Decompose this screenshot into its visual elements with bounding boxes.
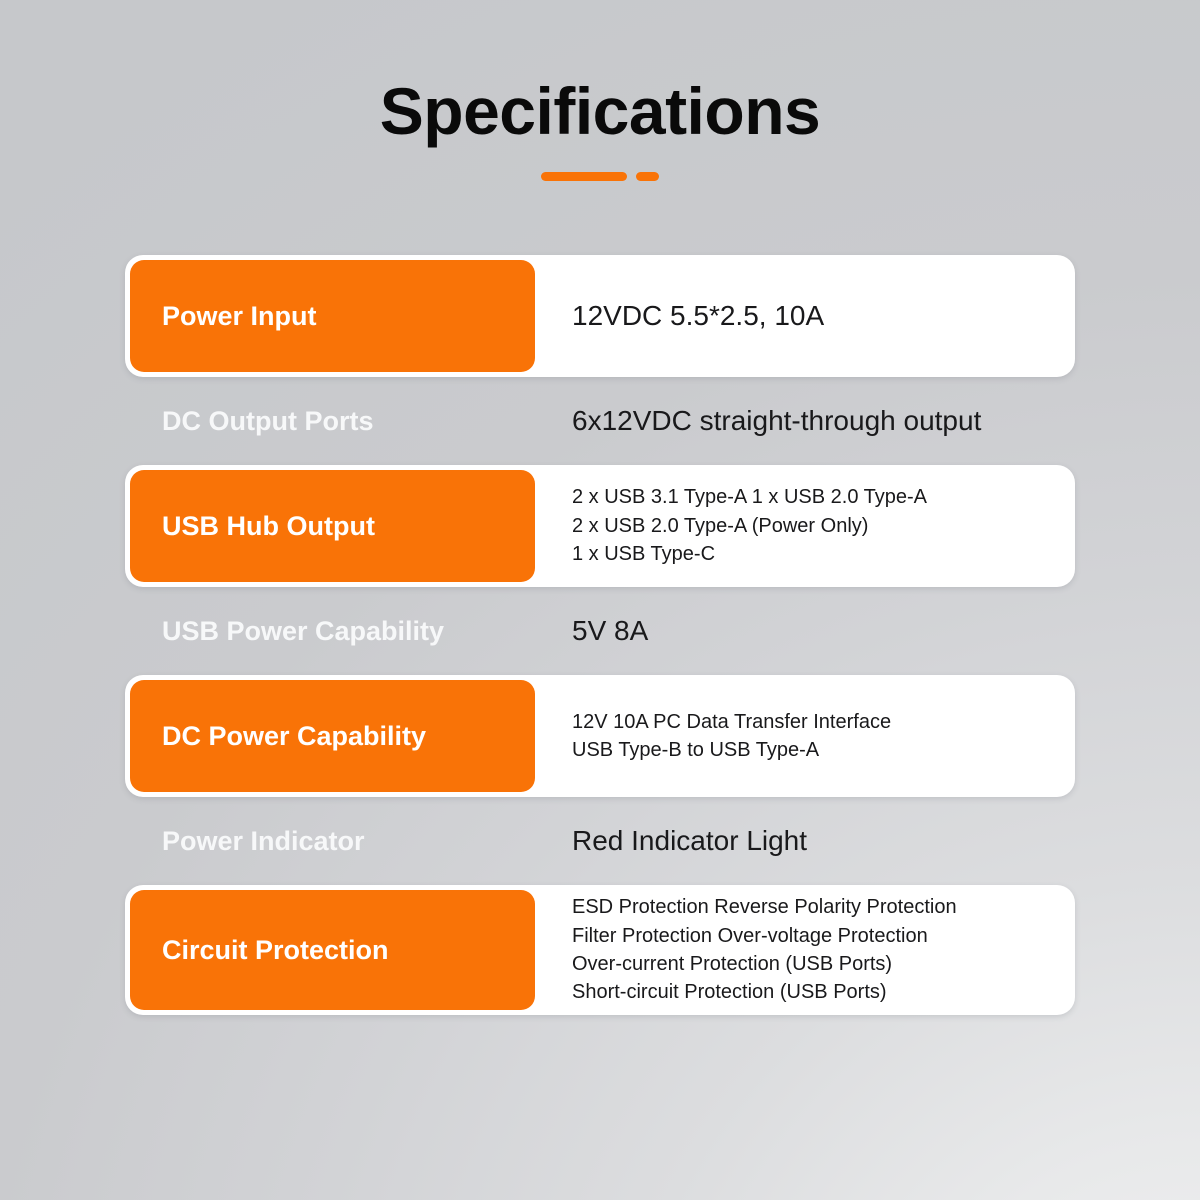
spec-value-cell: 12V 10A PC Data Transfer Interface USB T… [535,680,1070,792]
spec-value-cell: 5V 8A [535,600,1070,662]
spec-value-cell: 12VDC 5.5*2.5, 10A [535,260,1070,372]
spec-value-line: Over-current Protection (USB Ports) [572,950,1052,978]
divider-long-dash-icon [541,172,627,181]
spec-value-line: Filter Protection Over-voltage Protectio… [572,922,1052,950]
spec-label-cell: DC Power Capability [130,680,535,792]
spec-row-dc-power-capability: DC Power Capability 12V 10A PC Data Tran… [125,675,1075,797]
spec-label-cell: USB Power Capability [130,600,535,662]
spec-value-line: 12VDC 5.5*2.5, 10A [572,298,1052,335]
spec-row-power-input: Power Input 12VDC 5.5*2.5, 10A [125,255,1075,377]
spec-label: USB Power Capability [162,615,444,648]
spec-row-power-indicator: Power Indicator Red Indicator Light [125,805,1075,877]
divider-short-dash-icon [636,172,659,181]
spec-value-cell: Red Indicator Light [535,810,1070,872]
spec-value-cell: 6x12VDC straight-through output [535,390,1070,452]
spec-value-line: USB Type-B to USB Type-A [572,736,1052,764]
spec-value-line: 2 x USB 3.1 Type-A 1 x USB 2.0 Type-A [572,483,1052,511]
spec-label: DC Output Ports [162,405,373,438]
spec-value-line: 1 x USB Type-C [572,540,1052,568]
spec-label-cell: Circuit Protection [130,890,535,1010]
spec-value-line: 2 x USB 2.0 Type-A (Power Only) [572,512,1052,540]
spec-value-line: 6x12VDC straight-through output [572,403,1052,440]
spec-value-line: Short-circuit Protection (USB Ports) [572,978,1052,1006]
spec-row-circuit-protection: Circuit Protection ESD Protection Revers… [125,885,1075,1015]
spec-label: Power Input [162,300,317,333]
spec-label: DC Power Capability [162,720,426,753]
spec-value-line: 12V 10A PC Data Transfer Interface [572,708,1052,736]
spec-value-line: ESD Protection Reverse Polarity Protecti… [572,893,1052,921]
spec-value-cell: ESD Protection Reverse Polarity Protecti… [535,890,1070,1010]
specifications-page: Specifications Power Input 12VDC 5.5*2.5… [0,0,1200,1200]
spec-label-cell: Power Indicator [130,810,535,872]
spec-row-usb-power-capability: USB Power Capability 5V 8A [125,595,1075,667]
spec-label-cell: DC Output Ports [130,390,535,452]
page-header: Specifications [0,72,1200,181]
spec-label-cell: Power Input [130,260,535,372]
spec-label-cell: USB Hub Output [130,470,535,582]
spec-row-dc-output-ports: DC Output Ports 6x12VDC straight-through… [125,385,1075,457]
spec-value-line: 5V 8A [572,613,1052,650]
spec-value-line: Red Indicator Light [572,823,1052,860]
spec-label: Circuit Protection [162,934,389,967]
specifications-table: Power Input 12VDC 5.5*2.5, 10A DC Output… [125,255,1075,1023]
spec-value-cell: 2 x USB 3.1 Type-A 1 x USB 2.0 Type-A 2 … [535,470,1070,582]
spec-label: USB Hub Output [162,510,375,543]
spec-label: Power Indicator [162,825,365,858]
page-title: Specifications [0,72,1200,150]
title-divider [0,172,1200,181]
spec-row-usb-hub-output: USB Hub Output 2 x USB 3.1 Type-A 1 x US… [125,465,1075,587]
